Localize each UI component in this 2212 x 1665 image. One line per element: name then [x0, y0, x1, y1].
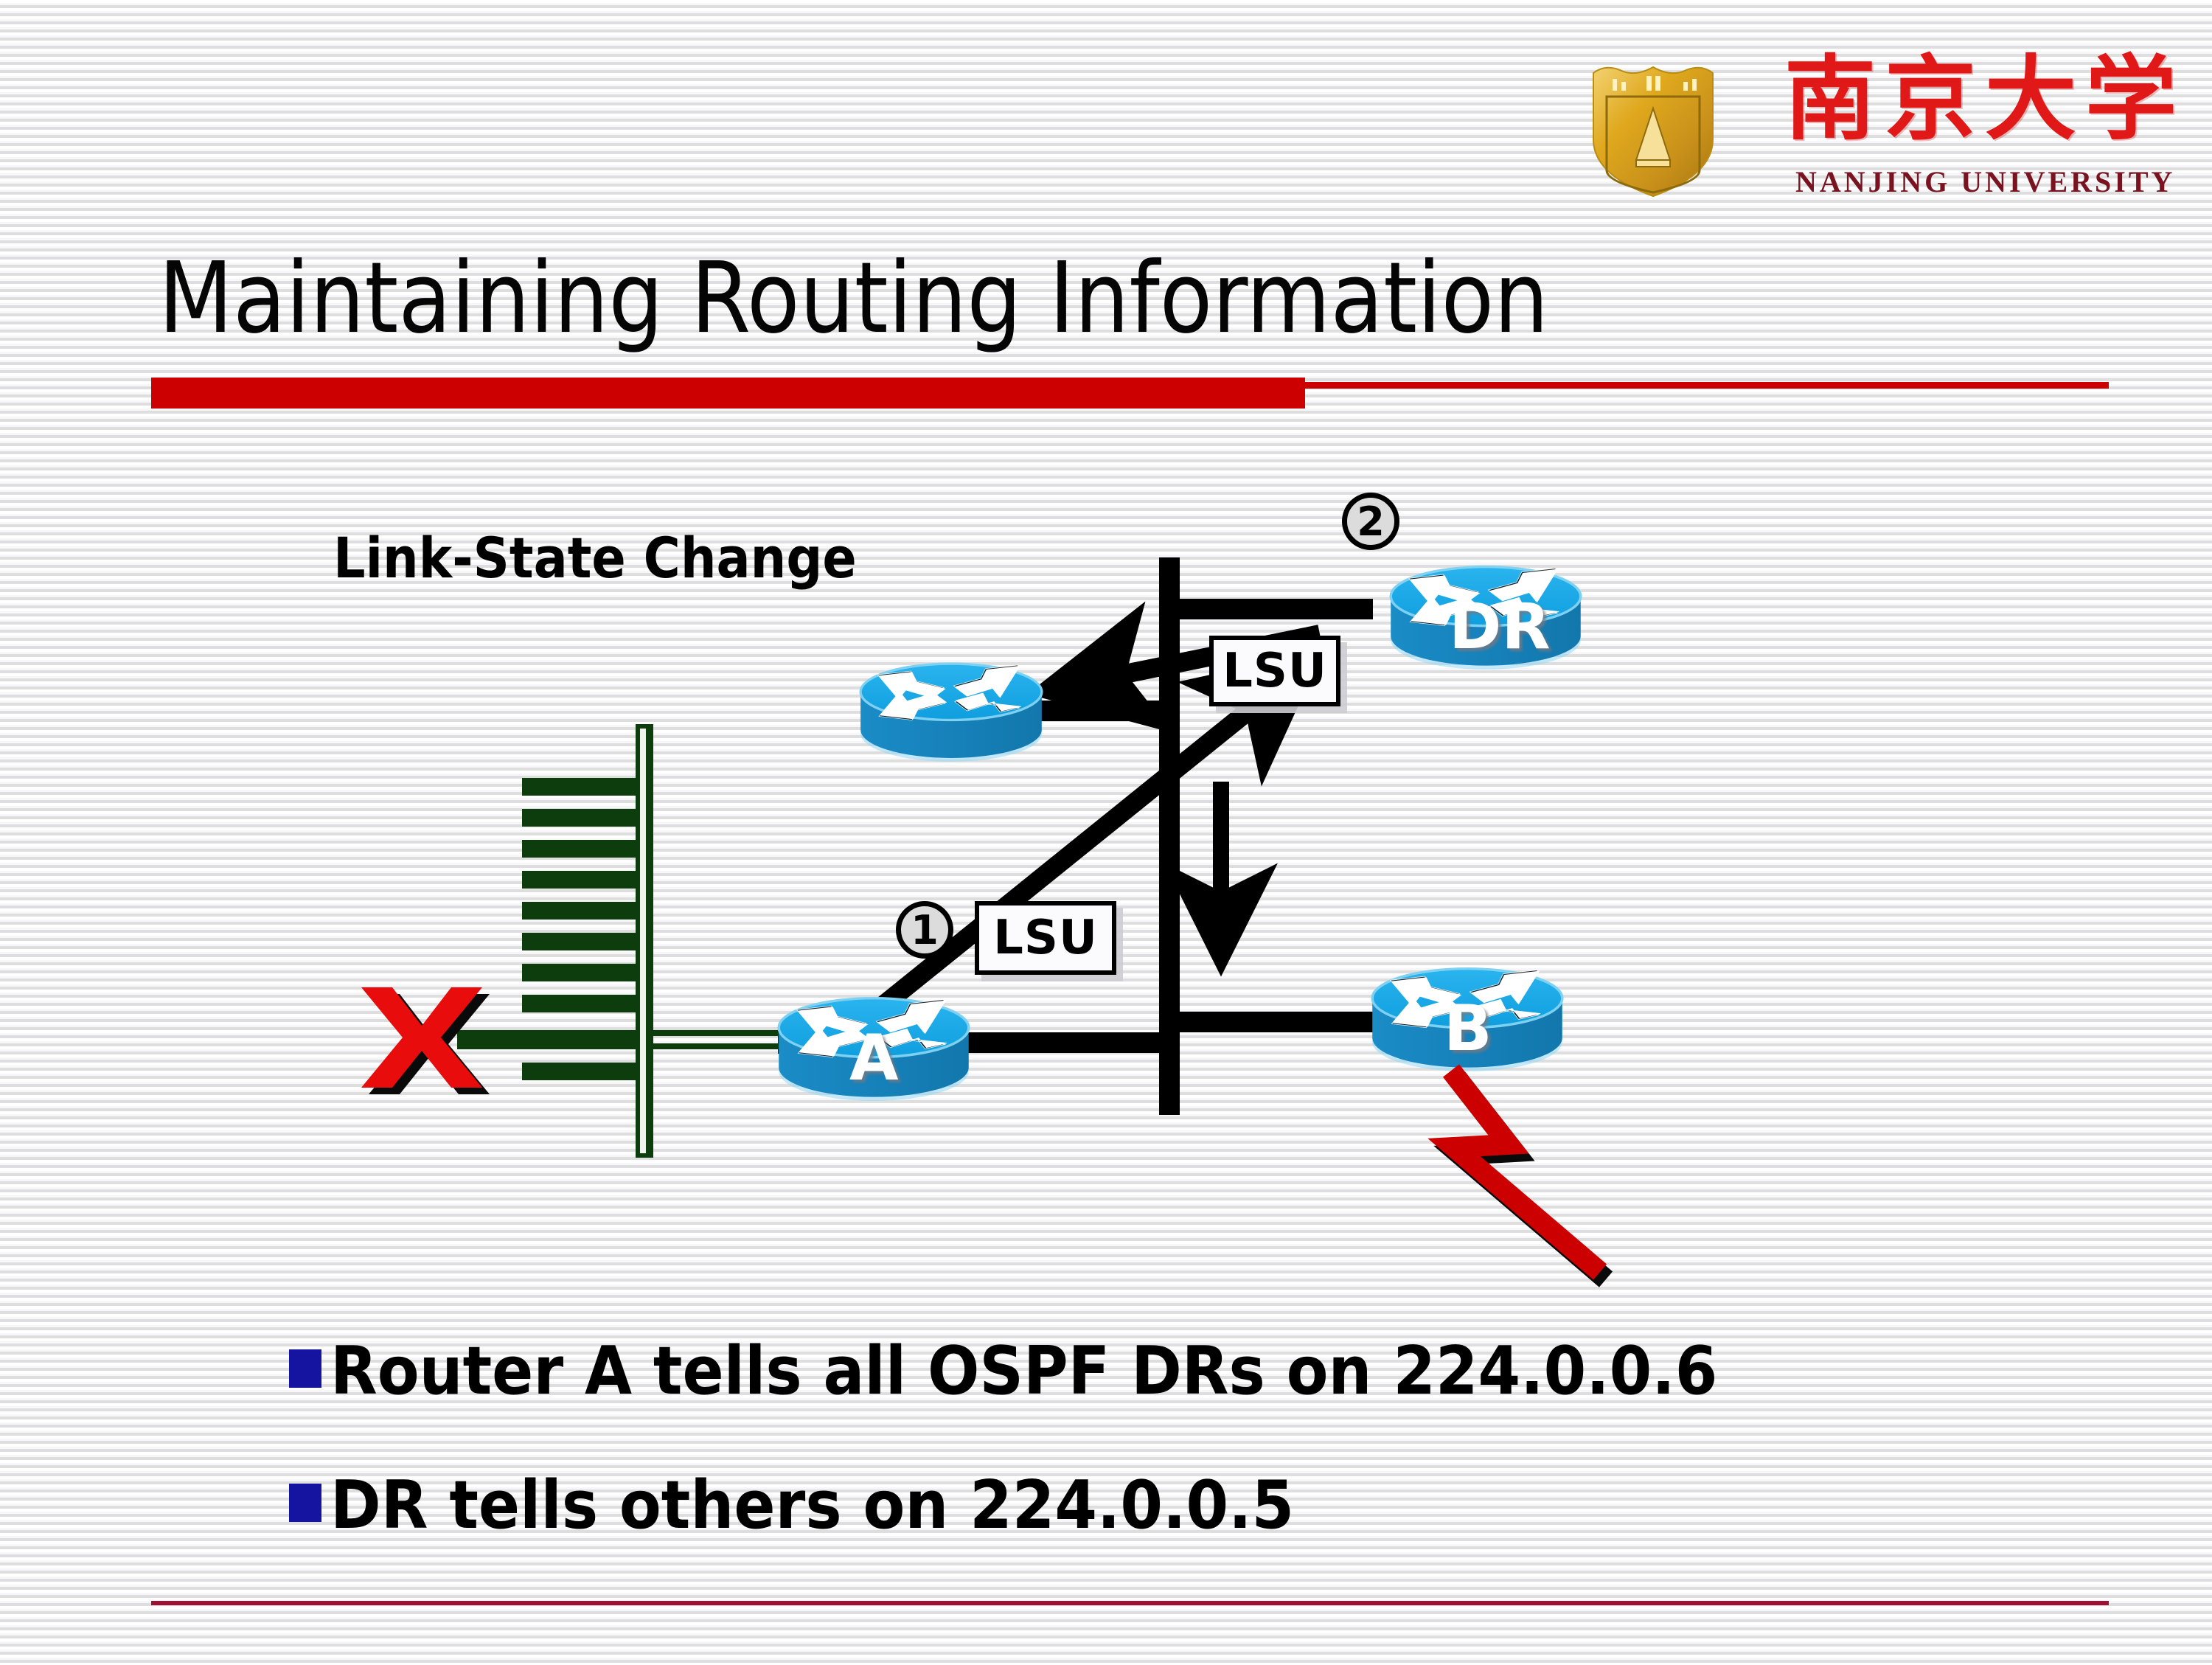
lsu-label-bottom-text: LSU — [993, 911, 1098, 965]
bullet-marker — [289, 1484, 321, 1522]
router-icon-dr[interactable] — [1391, 567, 1581, 670]
step-badge-1-label: 1 — [911, 907, 939, 953]
lsu-label-top-text: LSU — [1222, 644, 1327, 698]
failed-network-segment — [457, 724, 799, 1158]
step-badge-2: 2 — [1342, 493, 1399, 550]
bullet-marker — [289, 1349, 321, 1388]
wan-link-lightning-icon — [1451, 1071, 1606, 1279]
bullet-text: DR tells others on 224.0.0.5 — [330, 1470, 1294, 1541]
bullet-list: Router A tells all OSPF DRs on 224.0.0.6… — [289, 1336, 2059, 1605]
list-item: Router A tells all OSPF DRs on 224.0.0.6 — [289, 1336, 2059, 1407]
router-icon-middle[interactable] — [860, 664, 1042, 762]
router-icon-b[interactable] — [1372, 969, 1562, 1071]
lsu-label-bottom: LSU — [975, 901, 1116, 975]
step-badge-2-label: 2 — [1357, 498, 1385, 545]
list-item: DR tells others on 224.0.0.5 — [289, 1470, 2059, 1541]
router-icon-a[interactable] — [779, 998, 969, 1101]
step-badge-1: 1 — [896, 901, 953, 959]
bullet-text: Router A tells all OSPF DRs on 224.0.0.6 — [330, 1336, 1717, 1407]
lsu-label-top: LSU — [1209, 636, 1340, 706]
